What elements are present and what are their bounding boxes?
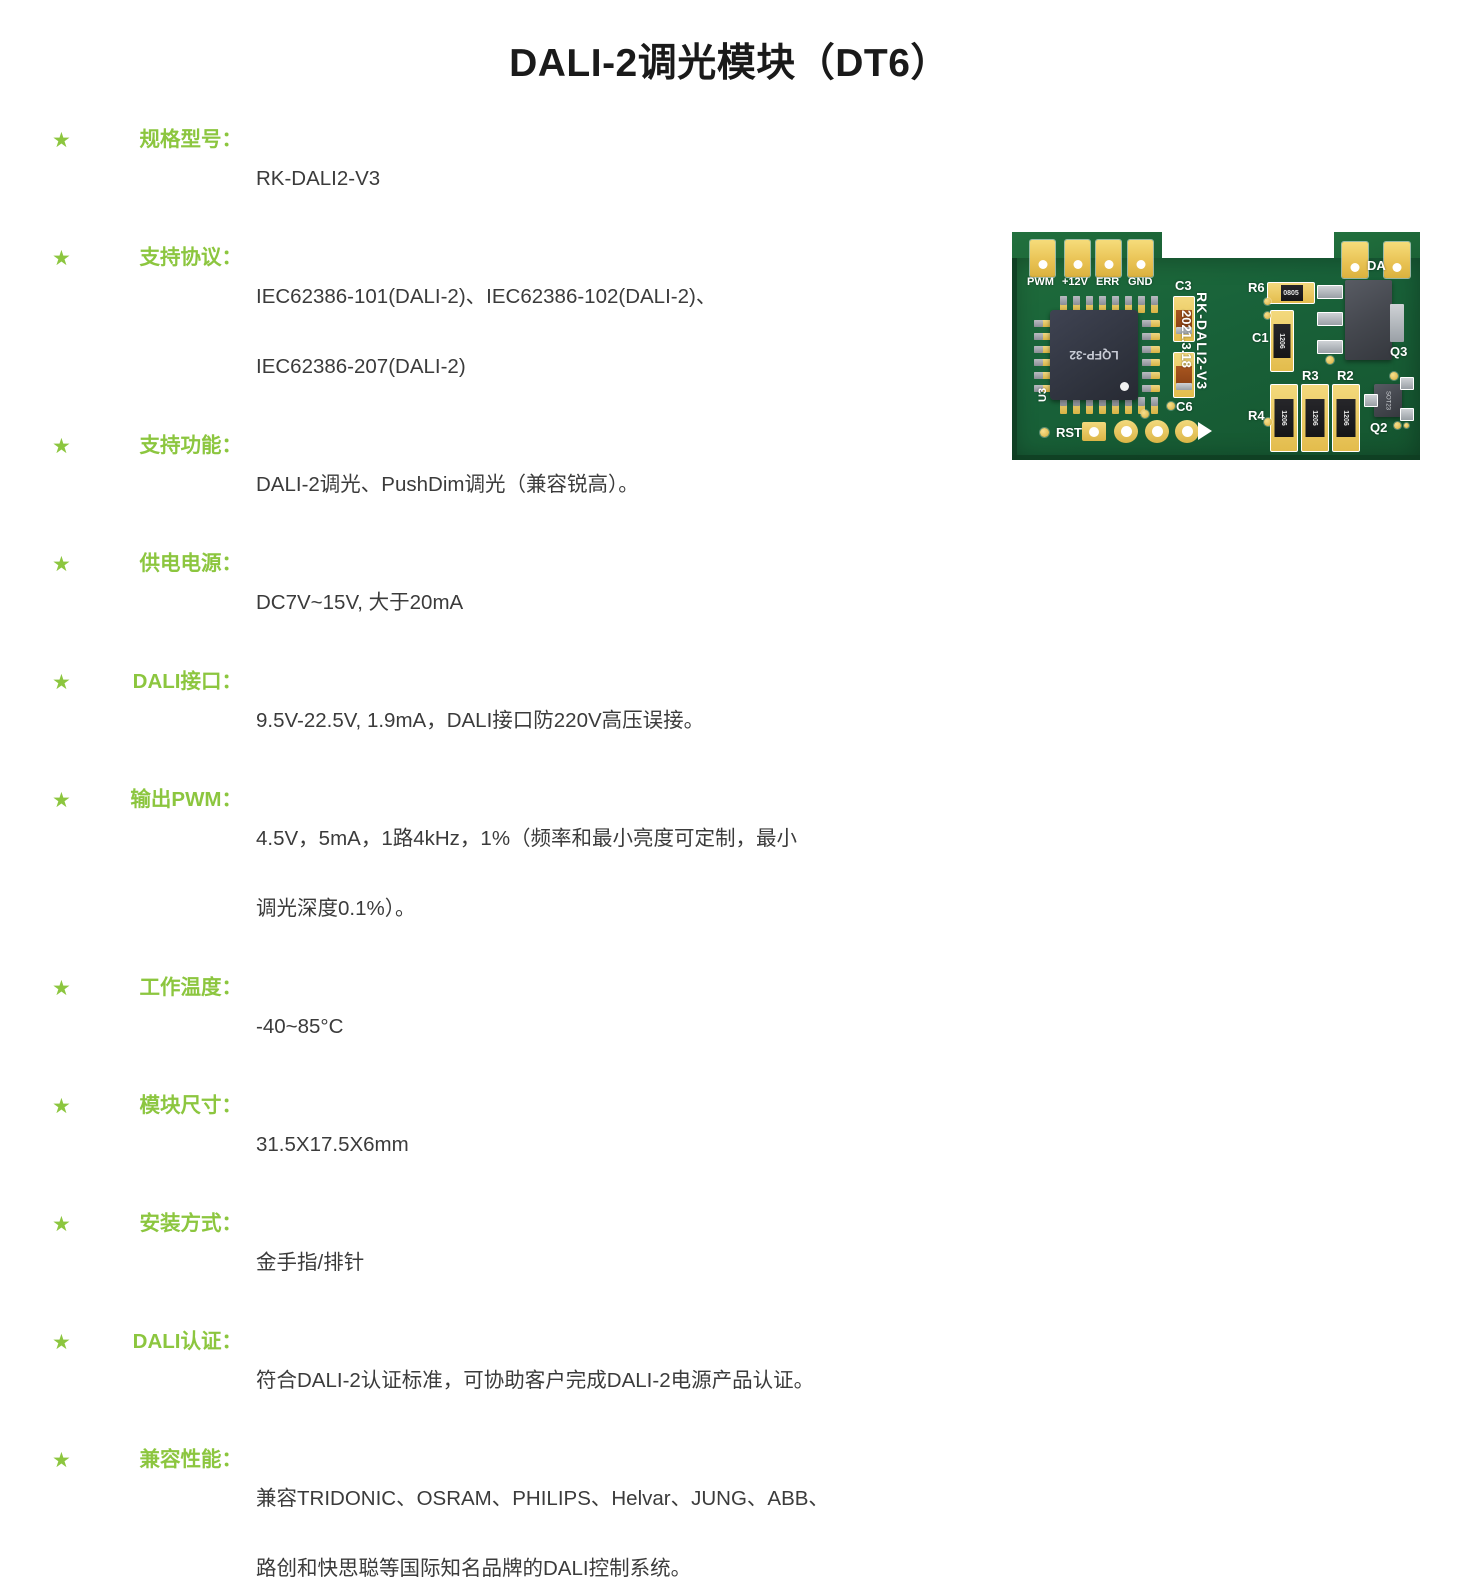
- mcu-leg: [1142, 359, 1160, 366]
- star-icon: ★: [52, 974, 94, 1000]
- component-q3: [1345, 280, 1392, 360]
- mcu-leg: [1142, 346, 1160, 353]
- pad-12v: [1065, 240, 1090, 277]
- silk-label-err: ERR: [1096, 276, 1119, 288]
- spec-row: ★ DALI接口： 9.5V-22.5V, 1.9mA，DALI接口防220V高…: [52, 668, 972, 773]
- pad-q3-1: [1317, 285, 1343, 299]
- component-q3-tab: [1390, 304, 1404, 342]
- star-icon: ★: [52, 1210, 94, 1236]
- silk-label-c6: C6: [1176, 399, 1193, 414]
- mcu-leg: [1151, 397, 1158, 414]
- mcu-pin1-marker: [1120, 382, 1129, 391]
- star-icon: ★: [52, 432, 94, 458]
- pcb-bottom-edge: [1012, 455, 1420, 460]
- spec-value-line: 9.5V-22.5V, 1.9mA，DALI接口防220V高压误接。: [256, 703, 972, 738]
- spec-value: 金手指/排针: [242, 1210, 972, 1315]
- silk-label-u3: U3: [1037, 388, 1049, 402]
- page-title: DALI-2调光模块（DT6）: [0, 32, 1459, 88]
- spec-label: DALI接口：: [94, 668, 242, 696]
- via: [1167, 402, 1175, 410]
- spec-label: 支持功能：: [94, 432, 242, 460]
- silk-label-r6: R6: [1248, 280, 1265, 295]
- pcb-left-edge: [1012, 258, 1017, 460]
- spec-value: 符合DALI-2认证标准，可协助客户完成DALI-2电源产品认证。: [242, 1328, 972, 1433]
- testpoint-2: [1145, 420, 1169, 443]
- spec-label: 支持协议：: [94, 244, 242, 272]
- via: [1040, 428, 1049, 437]
- component-r6: 0805: [1267, 282, 1315, 304]
- mcu-lqfp32-chip: LQFP-32: [1050, 310, 1138, 400]
- spec-value-line: -40~85°C: [256, 1009, 972, 1044]
- spec-value-line: IEC62386-207(DALI-2): [256, 349, 972, 384]
- mcu-leg: [1142, 372, 1160, 379]
- pad-da-1: [1342, 242, 1368, 278]
- pad-q2-1: [1364, 394, 1378, 407]
- silk-label-c3: C3: [1175, 278, 1192, 293]
- spec-value-line: 4.5V，5mA，1路4kHz，1%（频率和最小亮度可定制，最小: [256, 821, 972, 856]
- spec-value-line: 路创和快思聪等国际知名品牌的DALI控制系统。: [256, 1551, 972, 1584]
- spec-row: ★ 支持协议： IEC62386-101(DALI-2)、IEC62386-10…: [52, 244, 972, 419]
- spec-label: 兼容性能：: [94, 1446, 242, 1474]
- via: [1390, 372, 1398, 380]
- silk-label-pwm: PWM: [1027, 276, 1054, 288]
- spec-value-line: DC7V~15V, 大于20mA: [256, 585, 972, 620]
- spec-value: DALI-2调光、PushDim调光（兼容锐高）。: [242, 432, 972, 537]
- spec-label: DALI认证：: [94, 1328, 242, 1356]
- spec-label: 供电电源：: [94, 550, 242, 578]
- via: [1264, 418, 1272, 426]
- mcu-leg: [1142, 333, 1160, 340]
- spec-value-line: RK-DALI2-V3: [256, 161, 972, 196]
- star-icon: ★: [52, 1446, 94, 1472]
- spec-label: 工作温度：: [94, 974, 242, 1002]
- pad-da-2: [1384, 242, 1410, 278]
- spec-label: 模块尺寸：: [94, 1092, 242, 1120]
- spec-value-line: 31.5X17.5X6mm: [256, 1127, 972, 1162]
- silk-label-12v: +12V: [1062, 276, 1088, 288]
- spec-label: 安装方式：: [94, 1210, 242, 1238]
- spec-row: ★ 支持功能： DALI-2调光、PushDim调光（兼容锐高）。: [52, 432, 972, 537]
- pad-q3-3: [1317, 340, 1343, 354]
- product-spec-page: DALI-2调光模块（DT6） ★ 规格型号： RK-DALI2-V3 ★ 支持…: [0, 0, 1459, 792]
- spec-value-line: 金手指/排针: [256, 1245, 972, 1280]
- spec-list: ★ 规格型号： RK-DALI2-V3 ★ 支持协议： IEC62386-101…: [52, 126, 972, 1584]
- mcu-leg: [1142, 385, 1160, 392]
- mcu-leg: [1142, 320, 1160, 327]
- pad-q3-2: [1317, 312, 1343, 326]
- spec-value: 兼容TRIDONIC、OSRAM、PHILIPS、Helvar、JUNG、ABB…: [242, 1446, 972, 1584]
- via: [1264, 298, 1271, 305]
- via: [1394, 422, 1401, 429]
- silk-label-gnd: GND: [1128, 276, 1152, 288]
- spec-value: IEC62386-101(DALI-2)、IEC62386-102(DALI-2…: [242, 244, 972, 419]
- testpoint-1: [1114, 420, 1138, 443]
- spec-label: 规格型号：: [94, 126, 242, 154]
- pad-pwm: [1030, 240, 1055, 277]
- star-icon: ★: [52, 244, 94, 270]
- pcb-product-image: PWM +12V ERR GND DA: [1012, 232, 1420, 460]
- silk-label-r3: R3: [1302, 368, 1319, 383]
- star-icon: ★: [52, 1328, 94, 1354]
- silk-board-name: RK-DALI2-V3: [1194, 292, 1210, 390]
- component-c1: 1206: [1270, 310, 1294, 372]
- spec-value: 4.5V，5mA，1路4kHz，1%（频率和最小亮度可定制，最小 调光深度0.1…: [242, 786, 972, 961]
- spec-value-line: 兼容TRIDONIC、OSRAM、PHILIPS、Helvar、JUNG、ABB…: [256, 1481, 972, 1516]
- spec-row: ★ 安装方式： 金手指/排针: [52, 1210, 972, 1315]
- star-icon: ★: [52, 1092, 94, 1118]
- component-code-r6: 0805: [1268, 283, 1314, 303]
- silk-label-q2: Q2: [1370, 420, 1387, 435]
- testpoint-rst: [1082, 422, 1106, 441]
- spec-value: 9.5V-22.5V, 1.9mA，DALI接口防220V高压误接。: [242, 668, 972, 773]
- pad-q2-2: [1400, 377, 1414, 390]
- star-icon: ★: [52, 126, 94, 152]
- spec-row: ★ DALI认证： 符合DALI-2认证标准，可协助客户完成DALI-2电源产品…: [52, 1328, 972, 1433]
- silk-label-da: DA: [1367, 258, 1386, 273]
- via: [1264, 312, 1271, 319]
- silk-board-date: 2021.3.18: [1179, 310, 1194, 368]
- pad-q2-3: [1400, 408, 1414, 421]
- spec-value-line: 符合DALI-2认证标准，可协助客户完成DALI-2电源产品认证。: [256, 1363, 972, 1398]
- component-q2: SOT23: [1374, 384, 1402, 417]
- star-icon: ★: [52, 668, 94, 694]
- spec-label: 输出PWM：: [94, 786, 242, 814]
- mcu-leg: [1138, 296, 1145, 313]
- testpoint-3: [1175, 420, 1199, 443]
- via: [1141, 410, 1149, 418]
- spec-row: ★ 模块尺寸： 31.5X17.5X6mm: [52, 1092, 972, 1197]
- component-r2: 1206: [1332, 384, 1360, 452]
- star-icon: ★: [52, 786, 94, 812]
- spec-value: DC7V~15V, 大于20mA: [242, 550, 972, 655]
- pad-gnd: [1128, 240, 1153, 277]
- spec-value: -40~85°C: [242, 974, 972, 1079]
- spec-row: ★ 规格型号： RK-DALI2-V3: [52, 126, 972, 231]
- spec-row: ★ 输出PWM： 4.5V，5mA，1路4kHz，1%（频率和最小亮度可定制，最…: [52, 786, 972, 961]
- spec-value-line: IEC62386-101(DALI-2)、IEC62386-102(DALI-2…: [256, 279, 972, 314]
- star-icon: ★: [52, 550, 94, 576]
- silk-label-r2: R2: [1337, 368, 1354, 383]
- pad-err: [1096, 240, 1121, 277]
- spec-value: RK-DALI2-V3: [242, 126, 972, 231]
- spec-value-line: DALI-2调光、PushDim调光（兼容锐高）。: [256, 467, 972, 502]
- spec-row: ★ 供电电源： DC7V~15V, 大于20mA: [52, 550, 972, 655]
- mcu-leg: [1151, 296, 1158, 313]
- silk-label-rst: RST: [1056, 425, 1082, 440]
- silk-label-q3: Q3: [1390, 344, 1407, 359]
- pcb-board: PWM +12V ERR GND DA: [1012, 232, 1420, 460]
- via: [1326, 356, 1334, 364]
- via: [1404, 423, 1409, 428]
- spec-row: ★ 兼容性能： 兼容TRIDONIC、OSRAM、PHILIPS、Helvar、…: [52, 1446, 972, 1584]
- spec-value: 31.5X17.5X6mm: [242, 1092, 972, 1197]
- spec-row: ★ 工作温度： -40~85°C: [52, 974, 972, 1079]
- polarity-triangle-icon: [1198, 422, 1212, 440]
- component-code-c1: 1206: [1252, 330, 1312, 352]
- spec-value-line: 调光深度0.1%）。: [256, 891, 972, 926]
